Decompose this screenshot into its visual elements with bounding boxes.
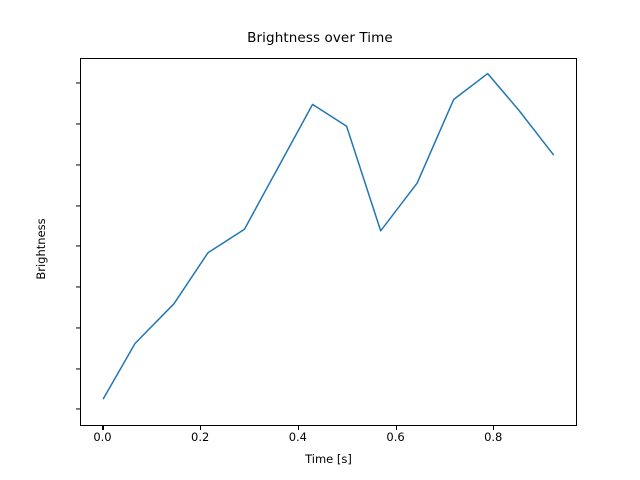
matplotlib-figure: Brightness over Time Brightness Time [s]… [0,0,640,480]
data-line-svg [81,59,576,425]
chart-title: Brightness over Time [0,30,640,46]
x-tick-label: 0.2 [191,430,209,444]
x-tick-mark [298,426,299,430]
x-tick-label: 0.8 [484,430,502,444]
x-tick-mark [493,426,494,430]
x-tick-label: 0.0 [93,430,111,444]
x-tick-mark [102,426,103,430]
x-tick-mark [396,426,397,430]
y-axis-label: Brightness [34,194,48,304]
brightness-line-series [103,74,553,399]
x-tick-mark [200,426,201,430]
x-tick-label: 0.6 [386,430,404,444]
plot-area [80,58,577,426]
x-axis-label: Time [s] [80,452,577,466]
x-tick-label: 0.4 [289,430,307,444]
